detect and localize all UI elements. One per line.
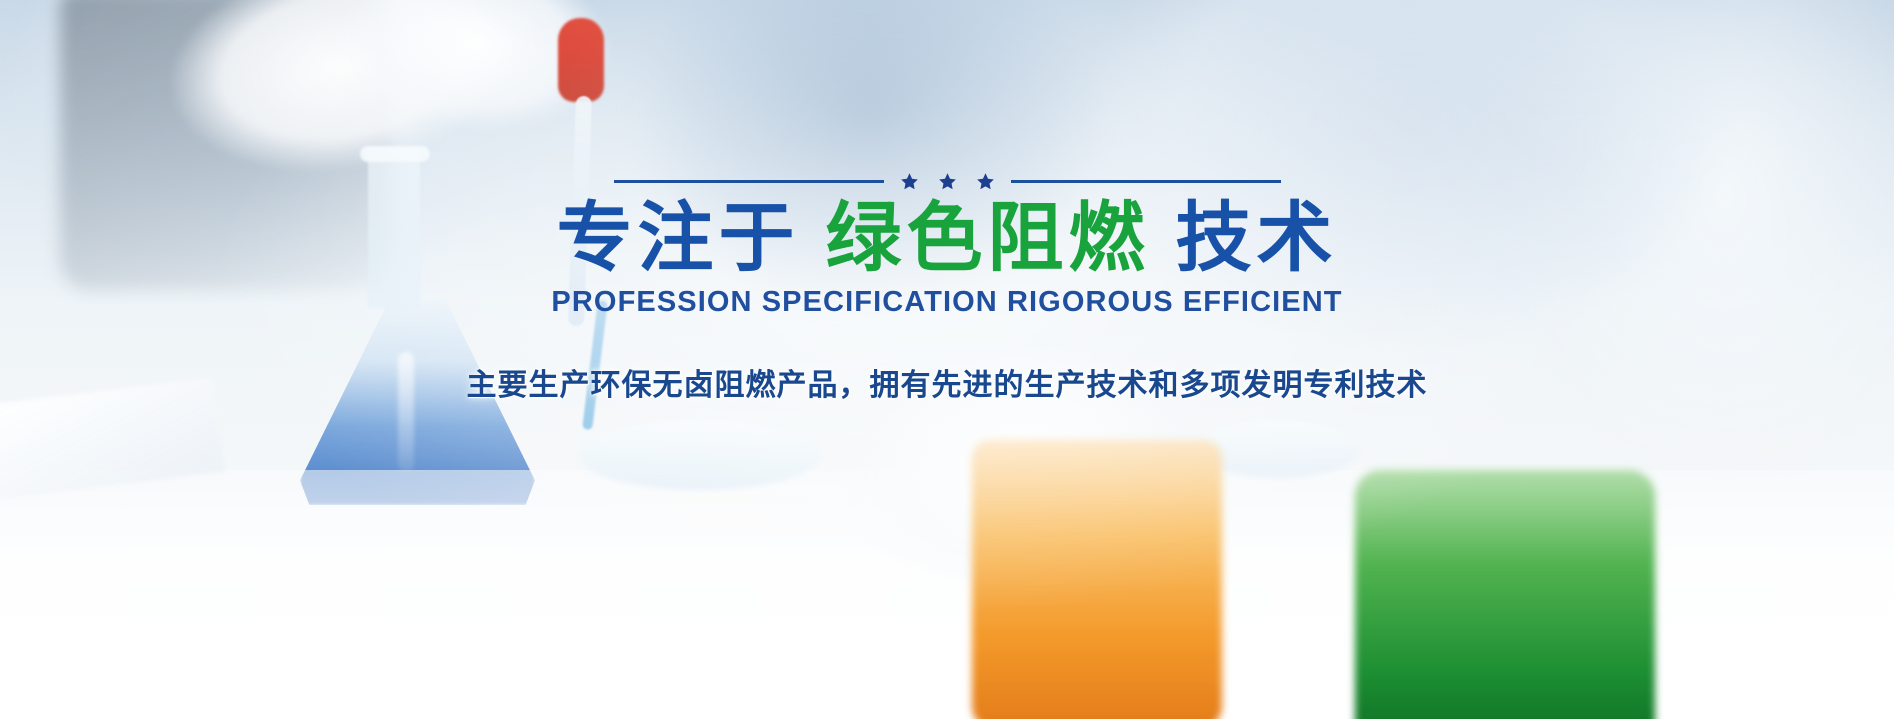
star-icon xyxy=(976,172,995,191)
divider-rule-left xyxy=(614,180,884,183)
banner-content: 专注于绿色阻燃技术 PROFESSION SPECIFICATION RIGOR… xyxy=(0,0,1894,719)
hero-banner: 专注于绿色阻燃技术 PROFESSION SPECIFICATION RIGOR… xyxy=(0,0,1894,719)
title-part-trail: 技术 xyxy=(1176,193,1338,282)
banner-tagline-chinese: 主要生产环保无卤阻燃产品，拥有先进的生产技术和多项发明专利技术 xyxy=(0,360,1894,404)
star-icon xyxy=(900,172,919,191)
divider-rule-right xyxy=(1011,180,1281,183)
banner-subtitle-english: PROFESSION SPECIFICATION RIGOROUS EFFICI… xyxy=(0,286,1894,319)
star-icon xyxy=(938,172,957,191)
title-divider xyxy=(0,172,1894,191)
banner-title: 专注于绿色阻燃技术 xyxy=(0,198,1894,278)
title-part-highlight: 绿色阻燃 xyxy=(826,193,1150,282)
title-part-lead: 专注于 xyxy=(557,193,800,282)
star-group xyxy=(900,172,995,191)
